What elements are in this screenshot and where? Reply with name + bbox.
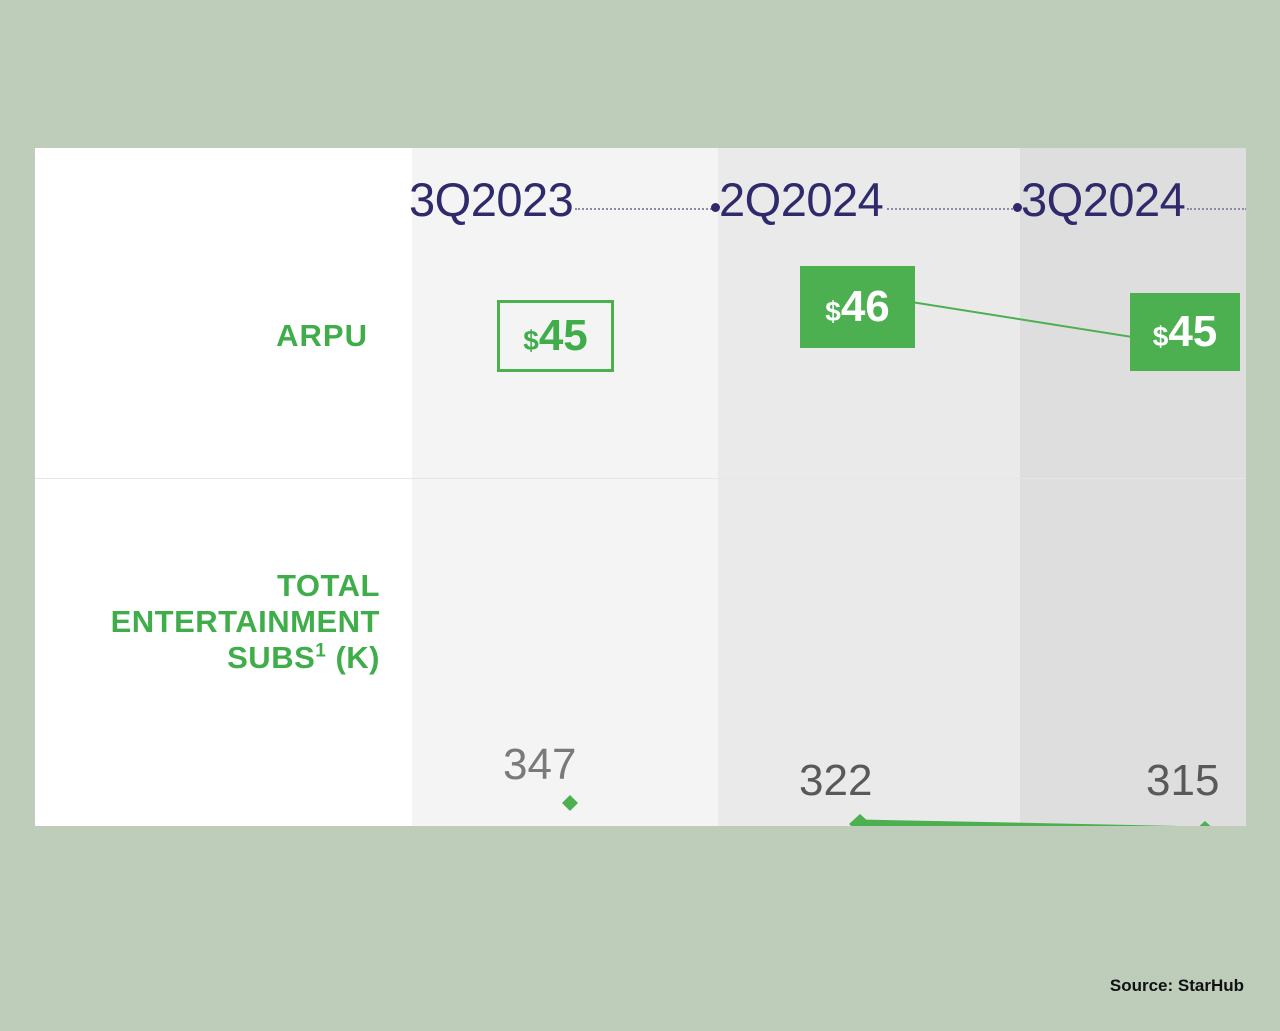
subs-data-layer: 347 322 315 bbox=[35, 478, 1246, 826]
subs-value-3q2023: 347 bbox=[503, 740, 576, 790]
subs-marker-3q2024 bbox=[1194, 821, 1216, 826]
subs-trend-chart bbox=[35, 478, 1246, 826]
arpu-value-3q2023-text: $45 bbox=[523, 314, 588, 358]
subs-marker-3q2023 bbox=[562, 795, 578, 811]
arpu-value-2q2024: $46 bbox=[800, 266, 915, 348]
period-label-3q2024: 3Q2024 bbox=[1021, 172, 1185, 227]
subs-marker-2q2024 bbox=[849, 814, 871, 826]
header-dotted-connector-3 bbox=[1187, 208, 1246, 212]
row-label-arpu: ARPU bbox=[276, 318, 368, 354]
currency-symbol: $ bbox=[523, 325, 539, 356]
arpu-amount: 46 bbox=[841, 282, 890, 331]
arpu-amount: 45 bbox=[1168, 307, 1217, 356]
arpu-amount: 45 bbox=[539, 311, 588, 360]
arpu-value-3q2024: $45 bbox=[1130, 293, 1240, 371]
source-attribution: Source: StarHub bbox=[1110, 976, 1244, 996]
period-label-3q2023: 3Q2023 bbox=[409, 172, 573, 227]
period-label-2q2024: 2Q2024 bbox=[719, 172, 883, 227]
metrics-card: 3Q2023 2Q2024 3Q2024 ARPU $45 $46 $45 TO… bbox=[35, 148, 1246, 826]
subs-value-3q2024: 315 bbox=[1146, 756, 1219, 806]
header-dotted-connector-1 bbox=[575, 208, 715, 212]
currency-symbol: $ bbox=[825, 296, 841, 327]
arpu-value-3q2024-text: $45 bbox=[1153, 310, 1218, 354]
arpu-value-2q2024-text: $46 bbox=[825, 285, 890, 329]
period-header-row: 3Q2023 2Q2024 3Q2024 bbox=[35, 162, 1246, 234]
subs-trend-line bbox=[860, 824, 1205, 826]
arpu-value-3q2023: $45 bbox=[497, 300, 614, 372]
header-dotted-connector-2 bbox=[887, 208, 1017, 212]
currency-symbol: $ bbox=[1153, 321, 1169, 352]
subs-value-2q2024: 322 bbox=[799, 756, 872, 806]
